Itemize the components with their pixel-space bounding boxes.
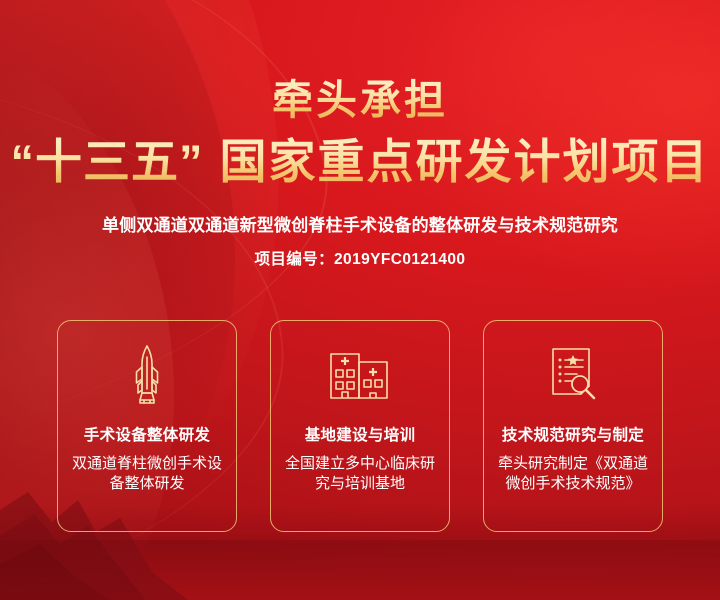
- project-subtitle: 单侧双通道双通道新型微创脊柱手术设备的整体研发与技术规范研究: [0, 211, 720, 236]
- rocket-icon: [127, 343, 167, 405]
- promo-poster: 牵头承担 “十三五”国家重点研发计划项目 单侧双通道双通道新型微创脊柱手术设备的…: [0, 0, 720, 600]
- feature-card-equipment-rd[interactable]: 手术设备整体研发 双通道脊柱微创手术设备整体研发: [57, 320, 237, 532]
- hospital-building-icon: [329, 343, 391, 405]
- headline-block: 牵头承担 “十三五”国家重点研发计划项目: [0, 78, 720, 190]
- project-number: 项目编号：2019YFC0121400: [0, 247, 720, 269]
- feature-card-title: 基地建设与培训: [305, 423, 416, 445]
- feature-card-body: 牵头研究制定《双通道微创手术技术规范》: [493, 454, 653, 495]
- headline-program-name: 国家重点研发计划项目: [220, 135, 710, 188]
- feature-card-base-training[interactable]: 基地建设与培训 全国建立多中心临床研究与培训基地: [270, 320, 450, 532]
- feature-card-list: 手术设备整体研发 双通道脊柱微创手术设备整体研发: [57, 320, 663, 532]
- feature-card-title: 手术设备整体研发: [84, 423, 210, 445]
- document-magnifier-icon: [547, 343, 599, 405]
- feature-card-title: 技术规范研究与制定: [502, 423, 644, 445]
- feature-card-body: 全国建立多中心临床研究与培训基地: [280, 454, 440, 495]
- feature-card-tech-standard[interactable]: 技术规范研究与制定 牵头研究制定《双通道微创手术技术规范》: [483, 320, 663, 532]
- headline-line-2: “十三五”国家重点研发计划项目: [0, 134, 720, 189]
- headline-line-1: 牵头承担: [0, 78, 720, 122]
- headline-quoted-term: “十三五”: [11, 135, 204, 188]
- feature-card-body: 双通道脊柱微创手术设备整体研发: [67, 454, 227, 495]
